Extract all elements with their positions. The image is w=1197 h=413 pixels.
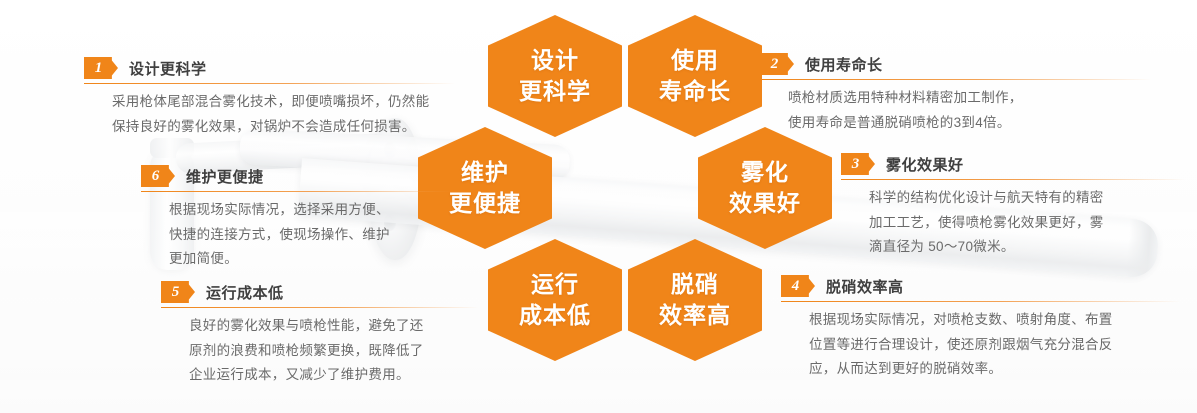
hexagon-maintenance-line1: 维护 bbox=[461, 157, 509, 188]
feature-4-header: 4 脱硝效率高 bbox=[781, 274, 1181, 298]
feature-3-line-1: 科学的结构优化设计与航天特有的精密 bbox=[869, 186, 1185, 211]
feature-2-title: 使用寿命长 bbox=[805, 54, 883, 75]
feature-2-header: 2 使用寿命长 bbox=[760, 52, 1152, 76]
feature-4-body: 根据现场实际情况，对喷枪支数、喷射角度、布置 位置等进行合理设计，使还原剂跟烟气… bbox=[781, 308, 1181, 382]
feature-3-divider bbox=[841, 179, 1185, 180]
feature-4-line-1: 根据现场实际情况，对喷枪支数、喷射角度、布置 bbox=[809, 308, 1181, 333]
feature-block-3: 3 雾化效果好 科学的结构优化设计与航天特有的精密 加工工艺，使得喷枪雾化效果更… bbox=[841, 152, 1185, 260]
feature-1-number: 1 bbox=[95, 61, 108, 76]
feature-3-body: 科学的结构优化设计与航天特有的精密 加工工艺，使得喷枪雾化效果更好，雾 滴直径为… bbox=[841, 186, 1185, 260]
hexagon-denitration-line2: 效率高 bbox=[659, 300, 731, 331]
feature-4-line-2: 位置等进行合理设计，使还原剂跟烟气充分混合反 bbox=[809, 333, 1181, 358]
hexagon-maintenance-line2: 更便捷 bbox=[449, 188, 521, 219]
spray-gun-elbow-cap-photo bbox=[150, 138, 194, 158]
feature-block-2: 2 使用寿命长 喷枪材质选用特种材料精密加工制作， 使用寿命是普通脱硝喷枪的3到… bbox=[760, 52, 1152, 135]
feature-block-5: 5 运行成本低 良好的雾化效果与喷枪性能，避免了还 原剂的浪费和喷枪频繁更换，既… bbox=[161, 280, 479, 388]
number-badge-icon-5: 5 bbox=[161, 281, 195, 303]
feature-block-4: 4 脱硝效率高 根据现场实际情况，对喷枪支数、喷射角度、布置 位置等进行合理设计… bbox=[781, 274, 1181, 382]
feature-1-line-2: 保持良好的雾化效果，对锅炉不会造成任何损害。 bbox=[112, 115, 456, 140]
feature-6-header: 6 维护更便捷 bbox=[141, 164, 453, 188]
feature-2-divider bbox=[760, 79, 1152, 80]
feature-6-line-3: 更加简便。 bbox=[169, 247, 453, 272]
feature-6-line-1: 根据现场实际情况，选择采用方便、 bbox=[169, 198, 453, 223]
feature-3-line-2: 加工工艺，使得喷枪雾化效果更好，雾 bbox=[869, 211, 1185, 236]
hexagon-cost-line1: 运行 bbox=[531, 269, 579, 300]
feature-2-line-2: 使用寿命是普通脱硝喷枪的3到4倍。 bbox=[788, 111, 1152, 136]
infographic-canvas: 设计 更科学 使用 寿命长 维护 更便捷 雾化 效果好 运行 成本低 脱硝 效率… bbox=[0, 0, 1197, 413]
feature-5-body: 良好的雾化效果与喷枪性能，避免了还 原剂的浪费和喷枪频繁更换，既降低了 企业运行… bbox=[161, 314, 479, 388]
feature-5-line-1: 良好的雾化效果与喷枪性能，避免了还 bbox=[189, 314, 479, 339]
feature-1-body: 采用枪体尾部混合雾化技术，即便喷嘴损坏，仍然能 保持良好的雾化效果，对锅炉不会造… bbox=[84, 90, 456, 139]
feature-block-6: 6 维护更便捷 根据现场实际情况，选择采用方便、 快捷的连接方式，使现场操作、维… bbox=[141, 164, 453, 272]
feature-block-1: 1 设计更科学 采用枪体尾部混合雾化技术，即便喷嘴损坏，仍然能 保持良好的雾化效… bbox=[84, 56, 456, 139]
feature-5-divider bbox=[161, 307, 479, 308]
number-badge-icon-1: 1 bbox=[84, 57, 118, 79]
feature-6-divider bbox=[141, 191, 453, 192]
feature-5-line-2: 原剂的浪费和喷枪频繁更换，既降低了 bbox=[189, 339, 479, 364]
hexagon-denitration[interactable]: 脱硝 效率高 bbox=[628, 239, 762, 361]
feature-1-title: 设计更科学 bbox=[129, 58, 207, 79]
hexagon-cost-line2: 成本低 bbox=[519, 300, 591, 331]
feature-5-line-3: 企业运行成本，又减少了维护费用。 bbox=[189, 363, 479, 388]
hexagon-atomization-line1: 雾化 bbox=[741, 157, 789, 188]
feature-4-number: 4 bbox=[792, 279, 805, 294]
feature-4-divider bbox=[781, 301, 1181, 302]
feature-3-header: 3 雾化效果好 bbox=[841, 152, 1185, 176]
feature-6-title: 维护更便捷 bbox=[186, 166, 264, 187]
feature-3-number: 3 bbox=[852, 157, 865, 172]
feature-5-title: 运行成本低 bbox=[206, 282, 284, 303]
feature-6-number: 6 bbox=[152, 169, 165, 184]
feature-2-number: 2 bbox=[771, 57, 784, 72]
feature-5-header: 5 运行成本低 bbox=[161, 280, 479, 304]
feature-2-line-1: 喷枪材质选用特种材料精密加工制作， bbox=[788, 86, 1152, 111]
feature-1-line-1: 采用枪体尾部混合雾化技术，即便喷嘴损坏，仍然能 bbox=[112, 90, 456, 115]
hexagon-lifespan-line2: 寿命长 bbox=[659, 76, 731, 107]
hexagon-lifespan[interactable]: 使用 寿命长 bbox=[628, 15, 762, 137]
number-badge-icon-3: 3 bbox=[841, 153, 875, 175]
feature-5-number: 5 bbox=[172, 285, 185, 300]
hexagon-lifespan-line1: 使用 bbox=[671, 45, 719, 76]
feature-4-title: 脱硝效率高 bbox=[826, 276, 904, 297]
hexagon-cost[interactable]: 运行 成本低 bbox=[488, 239, 622, 361]
number-badge-icon-4: 4 bbox=[781, 275, 815, 297]
hexagon-denitration-line1: 脱硝 bbox=[671, 269, 719, 300]
feature-1-divider bbox=[84, 83, 456, 84]
number-badge-icon-2: 2 bbox=[760, 53, 794, 75]
feature-6-line-2: 快捷的连接方式，使现场操作、维护 bbox=[169, 223, 453, 248]
feature-6-body: 根据现场实际情况，选择采用方便、 快捷的连接方式，使现场操作、维护 更加简便。 bbox=[141, 198, 453, 272]
number-badge-icon-6: 6 bbox=[141, 165, 175, 187]
hexagon-atomization-line2: 效果好 bbox=[729, 188, 801, 219]
hexagon-design-line1: 设计 bbox=[531, 45, 579, 76]
feature-3-line-3: 滴直径为 50～70微米。 bbox=[869, 235, 1185, 260]
feature-3-title: 雾化效果好 bbox=[886, 154, 964, 175]
feature-1-header: 1 设计更科学 bbox=[84, 56, 456, 80]
hexagon-atomization[interactable]: 雾化 效果好 bbox=[698, 127, 832, 249]
feature-2-body: 喷枪材质选用特种材料精密加工制作， 使用寿命是普通脱硝喷枪的3到4倍。 bbox=[760, 86, 1152, 135]
hexagon-design[interactable]: 设计 更科学 bbox=[488, 15, 622, 137]
hexagon-design-line2: 更科学 bbox=[519, 76, 591, 107]
feature-4-line-3: 应，从而达到更好的脱硝效率。 bbox=[809, 357, 1181, 382]
